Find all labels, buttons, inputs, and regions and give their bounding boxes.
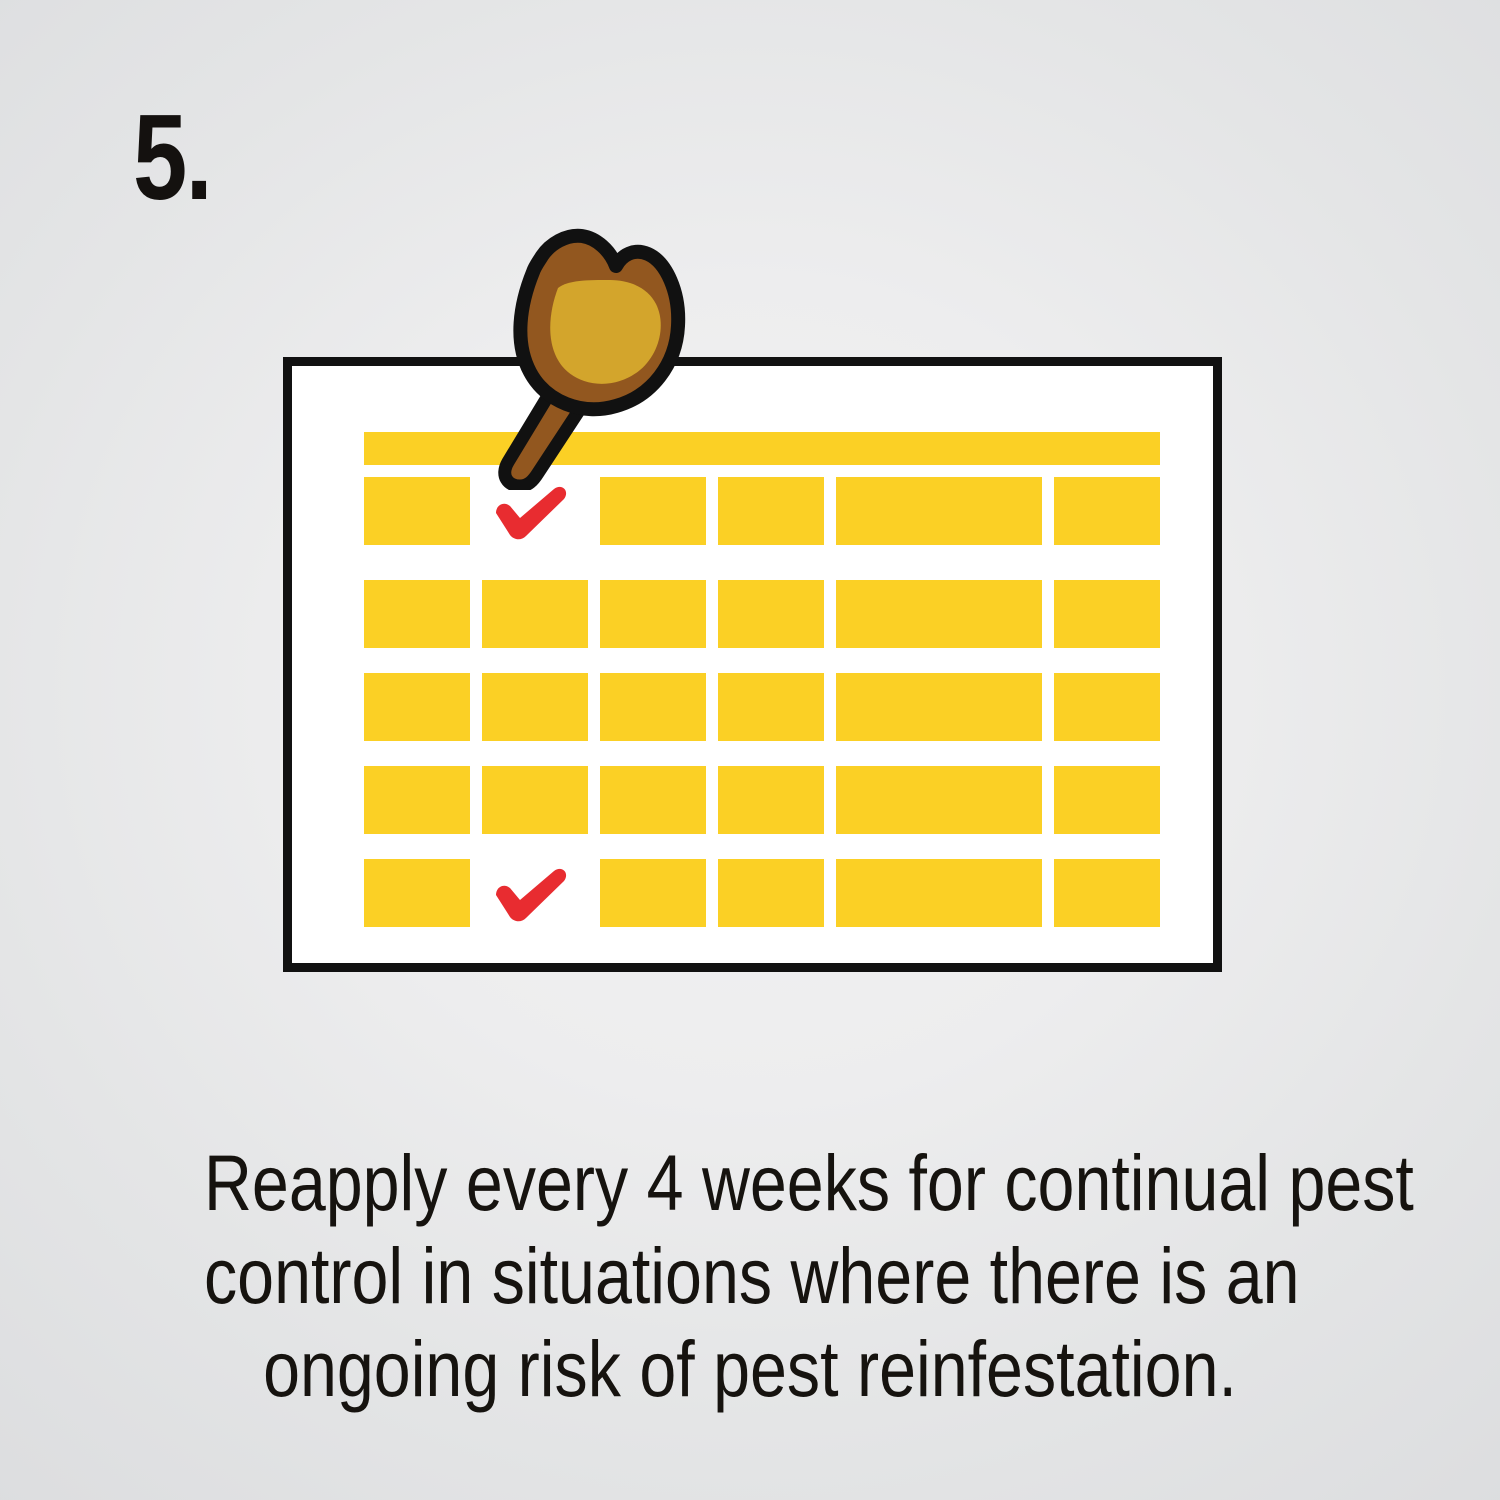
red-check-icon (482, 859, 588, 927)
caption-line-3: ongoing risk of pest reinfestation. (204, 1322, 1296, 1415)
calendar-grid (364, 432, 1160, 908)
calendar-cell[interactable] (836, 673, 942, 741)
calendar-cell[interactable] (936, 859, 1042, 927)
calendar-cell[interactable] (718, 859, 824, 927)
hand-stamp-icon (470, 200, 710, 490)
calendar-cell[interactable] (1054, 477, 1160, 545)
calendar-cell[interactable] (364, 766, 470, 834)
calendar-row (364, 859, 1160, 927)
calendar-cell[interactable] (600, 673, 706, 741)
calendar-cell[interactable] (936, 673, 1042, 741)
step-number: 5. (133, 96, 211, 218)
calendar-cell[interactable] (836, 580, 942, 648)
calendar-illustration (283, 357, 1222, 972)
calendar-row (364, 673, 1160, 741)
caption-line-2: control in situations where there is an (204, 1229, 1296, 1322)
calendar-cell[interactable] (600, 859, 706, 927)
calendar-cell-checked[interactable] (482, 859, 588, 927)
calendar-cell[interactable] (1054, 766, 1160, 834)
infographic-step-card: 5. (0, 0, 1500, 1500)
calendar-row (364, 766, 1160, 834)
calendar-cell[interactable] (936, 477, 1042, 545)
calendar-cell[interactable] (836, 766, 942, 834)
calendar-cell[interactable] (836, 859, 942, 927)
calendar-cell[interactable] (1054, 673, 1160, 741)
calendar-cell[interactable] (600, 580, 706, 648)
calendar-cell[interactable] (364, 859, 470, 927)
calendar-cell[interactable] (600, 766, 706, 834)
calendar-cell[interactable] (936, 766, 1042, 834)
calendar-cell[interactable] (718, 477, 824, 545)
calendar-cell[interactable] (364, 580, 470, 648)
calendar-cell[interactable] (482, 580, 588, 648)
calendar-cell[interactable] (364, 673, 470, 741)
calendar-row (364, 580, 1160, 648)
calendar-cell[interactable] (936, 580, 1042, 648)
calendar-cell[interactable] (364, 477, 470, 545)
calendar-cell[interactable] (1054, 859, 1160, 927)
calendar-cell[interactable] (1054, 580, 1160, 648)
calendar-cell[interactable] (482, 673, 588, 741)
calendar-cell[interactable] (482, 766, 588, 834)
calendar-cell[interactable] (836, 477, 942, 545)
calendar-cell[interactable] (718, 673, 824, 741)
caption: Reapply every 4 weeks for continual pest… (100, 1136, 1400, 1416)
calendar-frame (283, 357, 1222, 972)
caption-line-1: Reapply every 4 weeks for continual pest (204, 1136, 1296, 1229)
calendar-cell[interactable] (718, 580, 824, 648)
calendar-cell[interactable] (718, 766, 824, 834)
